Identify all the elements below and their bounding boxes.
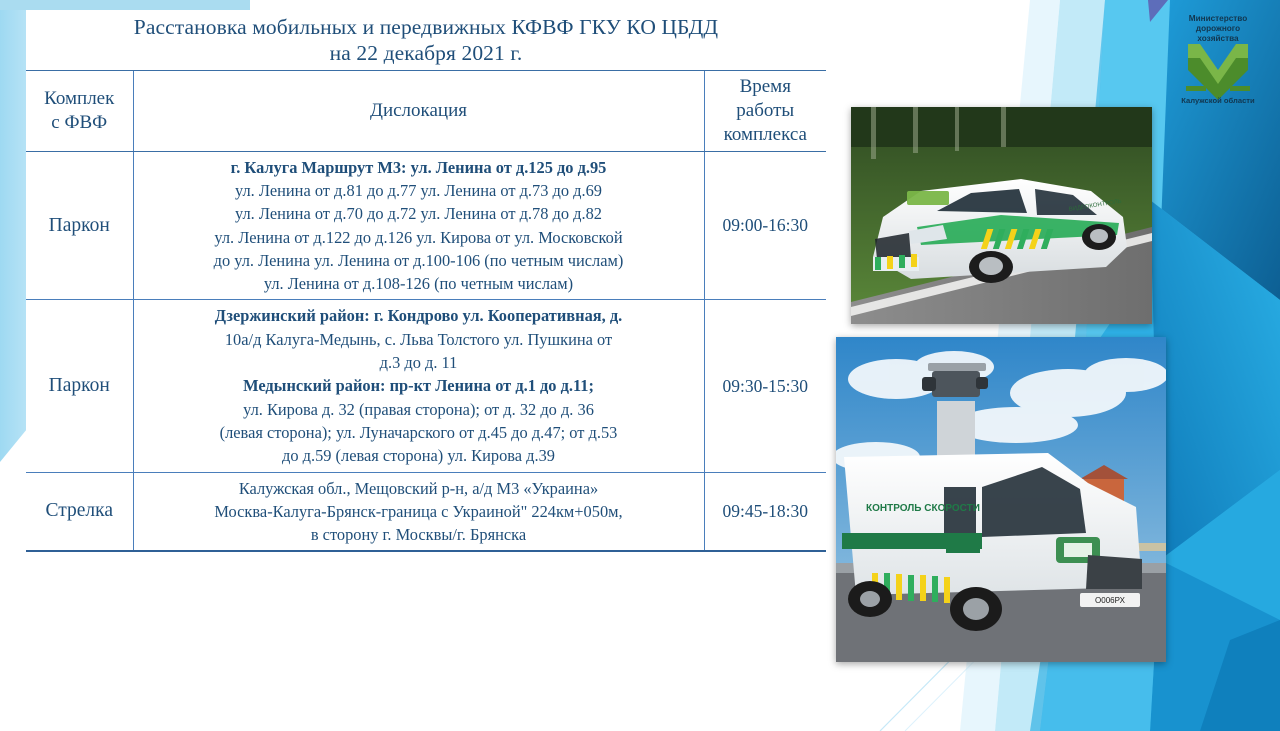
cell-kit: Паркон	[26, 300, 133, 472]
table-row: ПарконДзержинский район: г. Кондрово ул.…	[26, 300, 826, 472]
logo-line1: Министерство	[1189, 14, 1247, 23]
deployment-table: Расстановка мобильных и передвижных КФВФ…	[26, 10, 826, 552]
cell-location: Дзержинский район: г. Кондрово ул. Коопе…	[133, 300, 704, 472]
column-header-kit-line2: с ФВФ	[51, 112, 107, 133]
page-title-line1: Расстановка мобильных и передвижных КФВФ…	[134, 15, 718, 39]
location-line: Дзержинский район: г. Кондрово ул. Коопе…	[140, 304, 698, 327]
table-body: Парконг. Калуга Маршрут М3: ул. Ленина о…	[26, 151, 826, 551]
cell-kit: Паркон	[26, 151, 133, 300]
photo-van-bumper	[1086, 555, 1142, 589]
location-line: ул. Кирова д. 32 (правая сторона); от д.…	[140, 398, 698, 421]
ministry-logo: Министерство дорожного хозяйства Калужск…	[1172, 8, 1264, 108]
location-line: ул. Ленина от д.122 до д.126 ул. Кирова …	[140, 226, 698, 249]
location-line: ул. Ленина от д.108-126 (по четным числа…	[140, 272, 698, 295]
location-line: г. Калуга Маршрут М3: ул. Ленина от д.12…	[140, 156, 698, 179]
photo-van-marking-text: КОНТРОЛЬ СКОРОСТИ	[866, 503, 980, 514]
location-line: ул. Ленина от д.70 до д.72 ул. Ленина от…	[140, 202, 698, 225]
location-line: д.3 до д. 11	[140, 351, 698, 374]
logo-top-text: Министерство дорожного хозяйства	[1189, 14, 1247, 43]
photo-parkon-sedan: ВИДЕОКОНТРОЛЬ	[851, 107, 1152, 324]
location-line: в сторону г. Москвы/г. Брянска	[140, 523, 698, 546]
table-row: Парконг. Калуга Маршрут М3: ул. Ленина о…	[26, 151, 826, 300]
photo-speed-control-van: О006РХ КОНТРОЛЬ СКОРОСТИ	[836, 337, 1166, 662]
photo-car-body: ВИДЕОКОНТРОЛЬ	[873, 179, 1127, 283]
cell-time: 09:30-15:30	[704, 300, 826, 472]
deployment-table-container: Расстановка мобильных и передвижных КФВФ…	[26, 10, 826, 552]
page-title-line2: на 22 декабря 2021 г.	[32, 40, 820, 66]
column-header-time: Время работы комплекса	[704, 71, 826, 151]
table-row: СтрелкаКалужская обл., Мещовский р-н, а/…	[26, 472, 826, 551]
logo-line3: хозяйства	[1197, 34, 1239, 43]
column-header-time-line2: работы	[736, 100, 794, 121]
location-line: ул. Ленина от д.81 до д.77 ул. Ленина от…	[140, 179, 698, 202]
cell-time: 09:45-18:30	[704, 472, 826, 551]
location-line: Калужская обл., Мещовский р-н, а/д М3 «У…	[140, 477, 698, 500]
cell-location: Калужская обл., Мещовский р-н, а/д М3 «У…	[133, 472, 704, 551]
table-header-row: Комплек с ФВФ Дислокация Время работы ко…	[26, 71, 826, 151]
cell-location: г. Калуга Маршрут М3: ул. Ленина от д.12…	[133, 151, 704, 300]
column-header-time-line3: комплекса	[724, 124, 807, 145]
photo-car-emblem	[907, 191, 949, 205]
column-header-kit-line1: Комплек	[44, 88, 114, 109]
location-line: Медынский район: пр-кт Ленина от д.1 до …	[140, 374, 698, 397]
logo-line2: дорожного	[1196, 24, 1240, 33]
column-header-kit: Комплек с ФВФ	[26, 71, 133, 151]
location-line: до ул. Ленина ул. Ленина от д.100-106 (п…	[140, 249, 698, 272]
photo-van-plate-text: О006РХ	[1095, 596, 1126, 605]
location-line: до д.59 (левая сторона) ул. Кирова д.39	[140, 444, 698, 467]
logo-bottom-line: Калужской области	[1181, 96, 1255, 105]
logo-m-mark	[1186, 44, 1250, 100]
location-line: Москва-Калуга-Брянск-граница с Украиной"…	[140, 500, 698, 523]
location-line: (левая сторона); ул. Луначарского от д.4…	[140, 421, 698, 444]
column-header-location: Дислокация	[133, 71, 704, 151]
cell-time: 09:00-16:30	[704, 151, 826, 300]
cell-kit: Стрелка	[26, 472, 133, 551]
page-title: Расстановка мобильных и передвижных КФВФ…	[26, 10, 826, 71]
table-title-row: Расстановка мобильных и передвижных КФВФ…	[26, 10, 826, 71]
column-header-time-line1: Время	[740, 76, 791, 97]
location-line: 10а/д Калуга-Медынь, с. Льва Толстого ул…	[140, 328, 698, 351]
